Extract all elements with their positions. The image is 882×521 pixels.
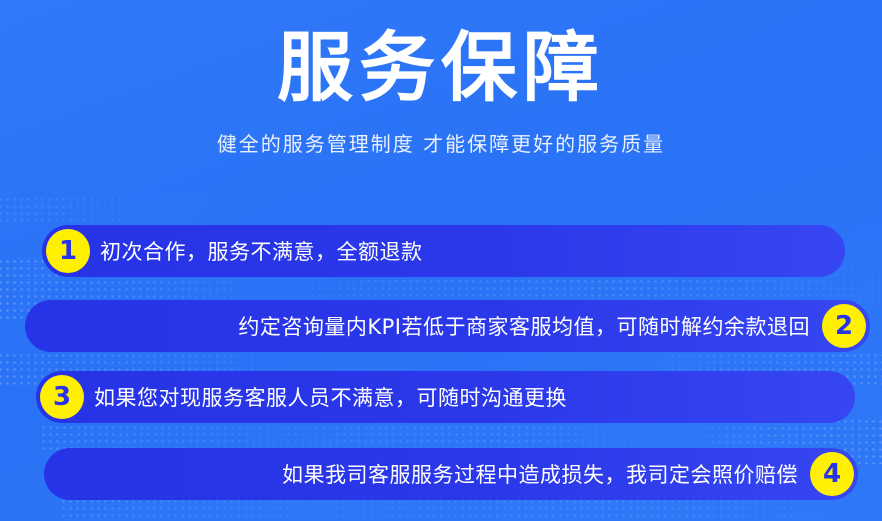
- page-title: 服务保障: [0, 0, 882, 106]
- guarantee-number-badge-2: 2: [822, 304, 866, 348]
- guarantee-text-1: 初次合作，服务不满意，全额退款: [100, 236, 423, 266]
- guarantee-text-3: 如果您对现服务客服人员不满意，可随时沟通更换: [94, 382, 567, 412]
- guarantee-item-1: 1 初次合作，服务不满意，全额退款: [42, 225, 845, 277]
- guarantee-text-2: 约定咨询量内KPI若低于商家客服均值，可随时解约余款退回: [238, 311, 810, 341]
- guarantee-item-4: 如果我司客服服务过程中造成损失，我司定会照价赔偿 4: [44, 448, 858, 500]
- guarantee-number-badge-4: 4: [810, 452, 854, 496]
- poster-header: 服务保障 健全的服务管理制度 才能保障更好的服务质量: [0, 0, 882, 157]
- guarantee-text-4: 如果我司客服服务过程中造成损失，我司定会照价赔偿: [282, 459, 798, 489]
- halftone-dot-texture-icon: [0, 196, 210, 222]
- halftone-dot-texture-icon: [60, 498, 820, 521]
- service-guarantee-poster: 服务保障 健全的服务管理制度 才能保障更好的服务质量 1 初次合作，服务不满意，…: [0, 0, 882, 521]
- guarantee-number-badge-3: 3: [40, 375, 84, 419]
- guarantee-item-3: 3 如果您对现服务客服人员不满意，可随时沟通更换: [36, 371, 855, 423]
- guarantee-number-badge-1: 1: [46, 229, 90, 273]
- page-subtitle: 健全的服务管理制度 才能保障更好的服务质量: [0, 106, 882, 157]
- guarantee-item-2: 约定咨询量内KPI若低于商家客服均值，可随时解约余款退回 2: [25, 300, 870, 352]
